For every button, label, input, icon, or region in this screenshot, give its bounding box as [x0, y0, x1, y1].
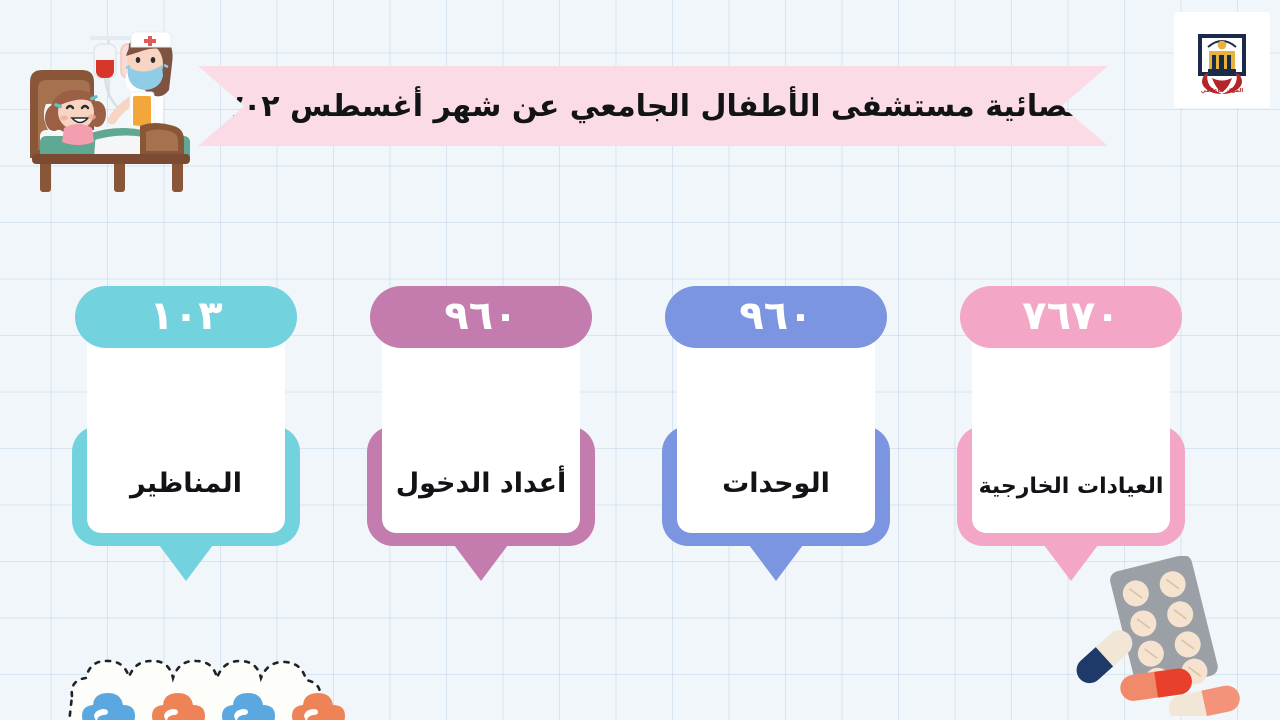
card-value: ٧٦٧٠ [1022, 296, 1120, 336]
ribbon-shape: إحصائية مستشفى الأطفال الجامعي عن شهر أغ… [198, 66, 1108, 146]
page-title: إحصائية مستشفى الأطفال الجامعي عن شهر أغ… [166, 90, 1139, 123]
card-header: ٧٦٧٠ [960, 286, 1182, 348]
card-value: ١٠٣ [149, 296, 222, 336]
card-value: ٩٦٠ [739, 296, 812, 336]
card-body: المناظير [87, 329, 285, 533]
card-pointer [153, 537, 219, 581]
card-header: ٩٦٠ [665, 286, 887, 348]
card-label: المناظير [130, 468, 242, 499]
card-body: أعداد الدخول [382, 329, 580, 533]
stat-card-outpatient-clinics[interactable]: العيادات الخارجية ٧٦٧٠ [947, 286, 1195, 596]
card-header: ١٠٣ [75, 286, 297, 348]
card-header: ٩٦٠ [370, 286, 592, 348]
nurse-child-illustration [12, 8, 222, 220]
infographic-canvas: المركز الإعلامي إحصائية مستشفى الأطفال ا… [0, 0, 1280, 720]
stat-card-admissions[interactable]: أعداد الدخول ٩٦٠ [357, 286, 605, 596]
stat-card-scopes[interactable]: المناظير ١٠٣ [62, 286, 310, 596]
card-pointer [743, 537, 809, 581]
media-center-logo: المركز الإعلامي [1174, 12, 1270, 108]
card-body: الوحدات [677, 329, 875, 533]
card-pointer [448, 537, 514, 581]
pills-decoration [1044, 556, 1264, 716]
cloud-blobs-decoration [62, 630, 392, 720]
card-value: ٩٦٠ [444, 296, 517, 336]
card-body: العيادات الخارجية [972, 329, 1170, 533]
title-ribbon: إحصائية مستشفى الأطفال الجامعي عن شهر أغ… [198, 66, 1108, 146]
card-label: أعداد الدخول [396, 468, 567, 499]
logo-caption: المركز الإعلامي [1201, 88, 1244, 94]
card-label: العيادات الخارجية [979, 474, 1164, 499]
stat-card-units[interactable]: الوحدات ٩٦٠ [652, 286, 900, 596]
card-label: الوحدات [722, 468, 830, 499]
